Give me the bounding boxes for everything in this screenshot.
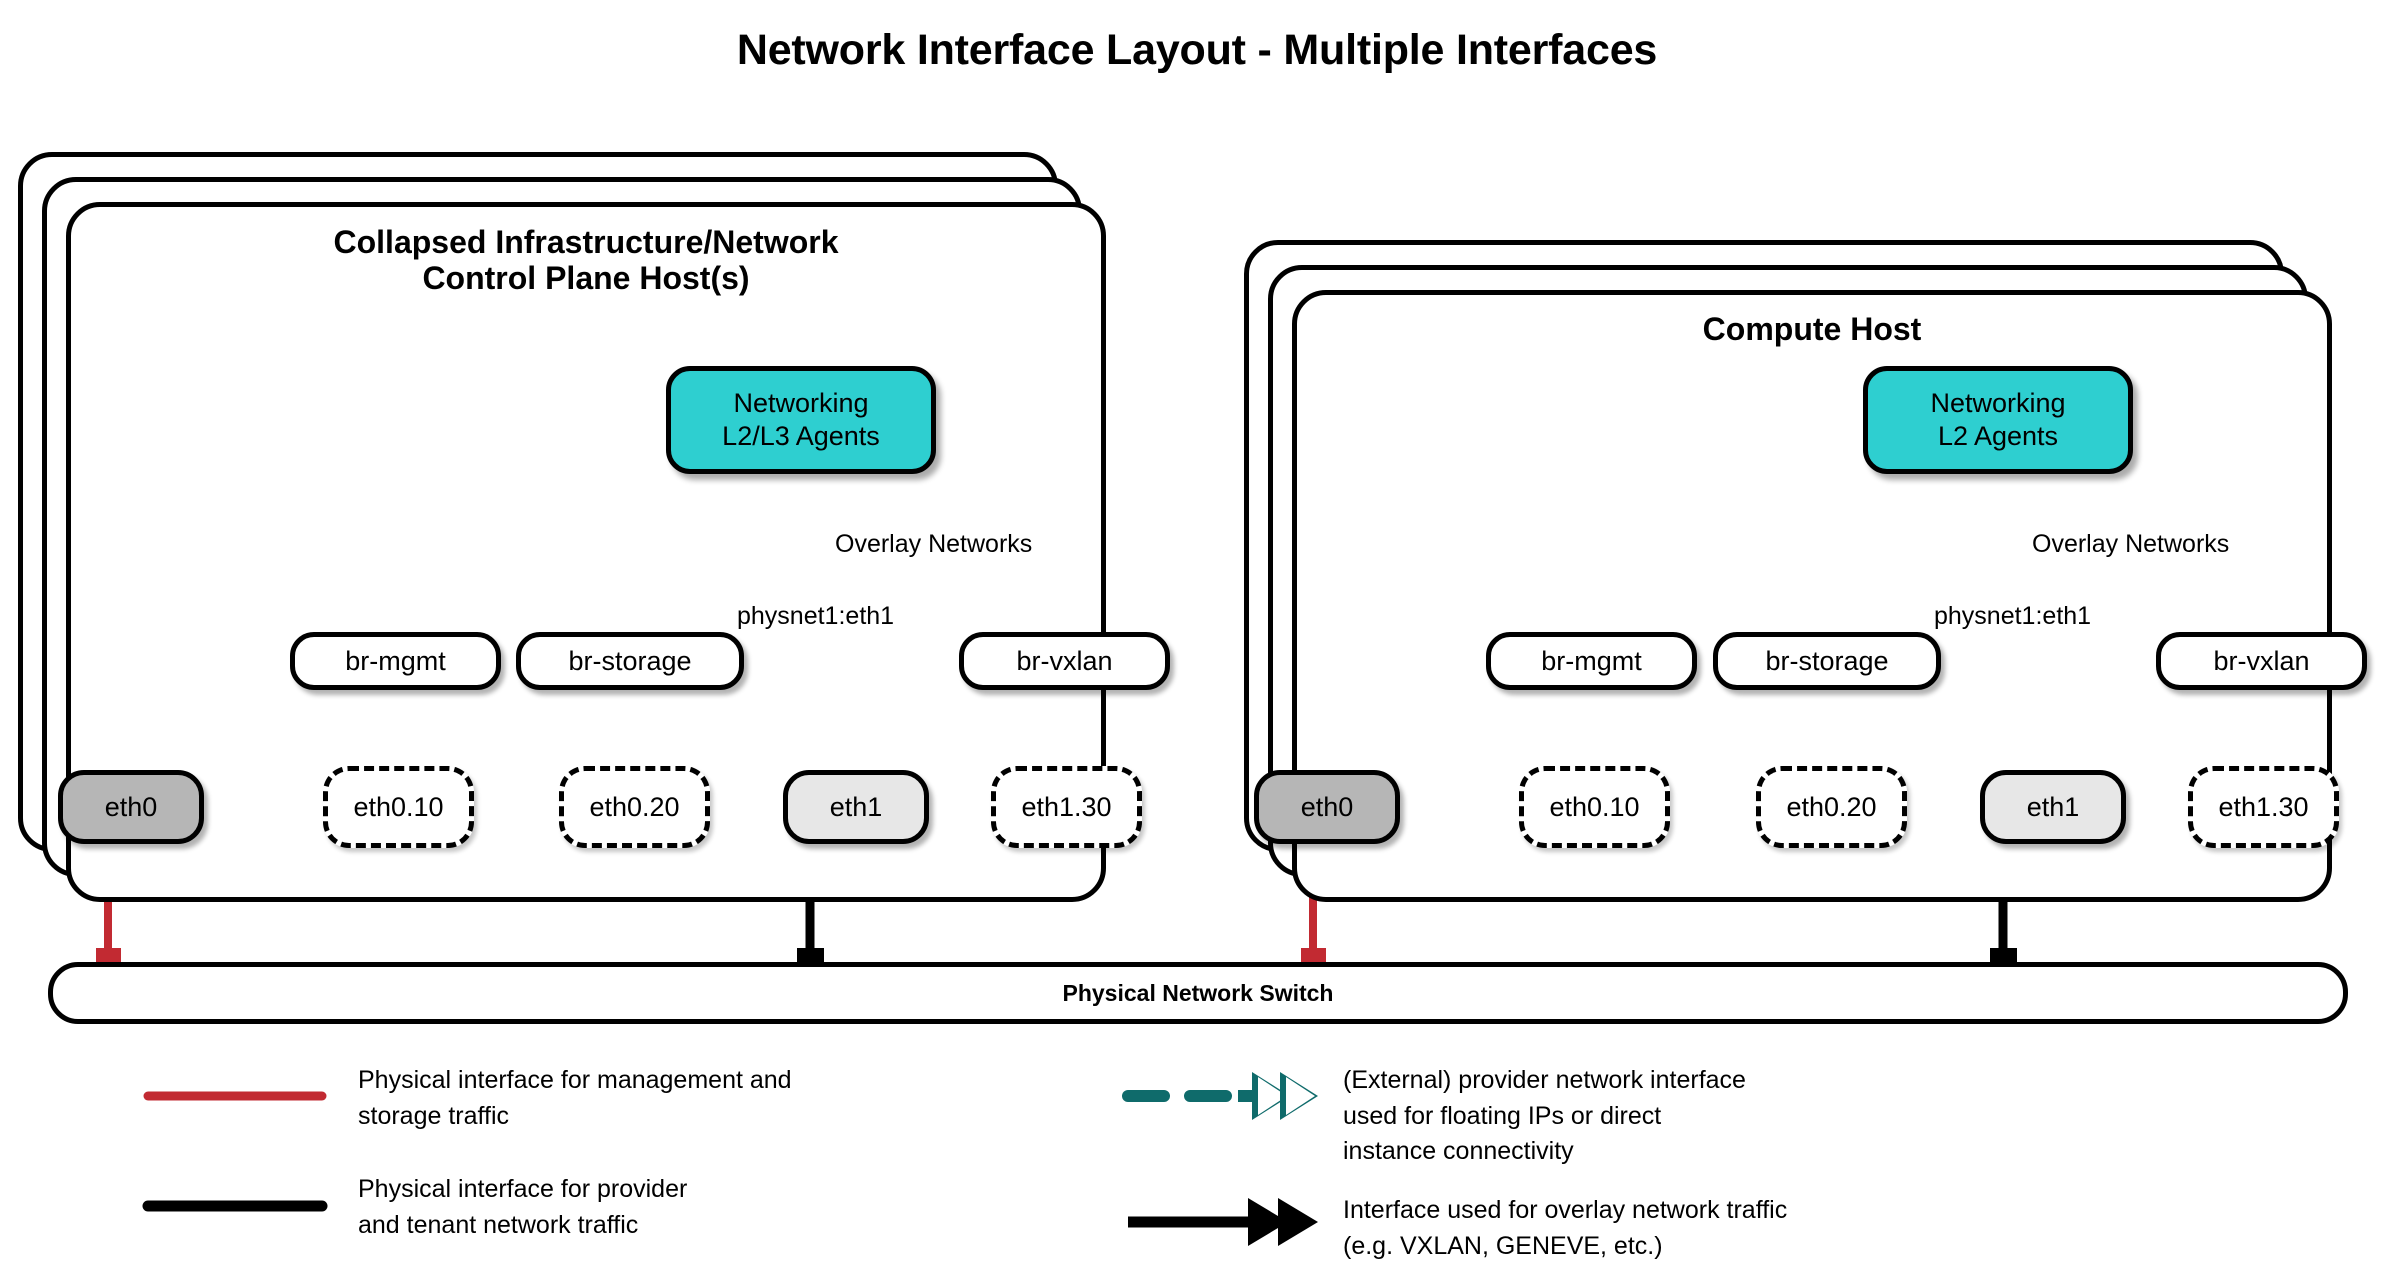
interface-label: eth0.10 — [353, 792, 443, 823]
networking-agents-node-control-plane[interactable]: Networking L2/L3 Agents — [666, 366, 936, 474]
interface-label: eth0 — [1301, 792, 1354, 823]
interface-label: eth1 — [830, 792, 883, 823]
bridge-label: br-vxlan — [2213, 646, 2309, 677]
legend-item-mgmt-text: Physical interface for management and st… — [358, 1063, 918, 1134]
interface-label: eth0.20 — [1786, 792, 1876, 823]
switch-label: Physical Network Switch — [1063, 980, 1334, 1007]
provider-network-label-compute: physnet1:eth1 — [1934, 602, 2091, 631]
physical-network-switch[interactable]: Physical Network Switch — [48, 962, 2348, 1024]
interface-label: eth1.30 — [2218, 792, 2308, 823]
agent-label-line-1: Networking — [733, 387, 868, 420]
vlan-interface-eth0-10-compute[interactable]: eth0.10 — [1519, 766, 1670, 848]
networking-agents-node-compute[interactable]: Networking L2 Agents — [1863, 366, 2133, 474]
legend-overlay-arrow-swatch — [1128, 1198, 1318, 1246]
provider-network-label-control-plane: physnet1:eth1 — [737, 602, 894, 631]
overlay-networks-label-compute: Overlay Networks — [2032, 530, 2229, 559]
bridge-node-br-mgmt-compute[interactable]: br-mgmt — [1486, 632, 1697, 690]
diagram-canvas: Network Interface Layout - Multiple Inte… — [0, 0, 2394, 1274]
overlay-networks-label-control-plane: Overlay Networks — [835, 530, 1032, 559]
physical-interface-eth0-compute[interactable]: eth0 — [1254, 770, 1400, 844]
vlan-interface-eth1-30-control-plane[interactable]: eth1.30 — [991, 766, 1142, 848]
interface-label: eth0.20 — [589, 792, 679, 823]
vlan-interface-eth0-20-control-plane[interactable]: eth0.20 — [559, 766, 710, 848]
bridge-node-br-vxlan-control-plane[interactable]: br-vxlan — [959, 632, 1170, 690]
interface-label: eth0.10 — [1549, 792, 1639, 823]
host-title-control-plane: Collapsed Infrastructure/Network Control… — [66, 225, 1106, 297]
bridge-label: br-storage — [568, 646, 691, 677]
bridge-label: br-storage — [1765, 646, 1888, 677]
host-title-compute: Compute Host — [1292, 312, 2332, 348]
legend-item-provider-text: (External) provider network interface us… — [1343, 1063, 1983, 1170]
vlan-interface-eth0-10-control-plane[interactable]: eth0.10 — [323, 766, 474, 848]
legend-provider-arrow-swatch — [1128, 1072, 1318, 1120]
vlan-interface-eth1-30-compute[interactable]: eth1.30 — [2188, 766, 2339, 848]
physical-interface-eth0-control-plane[interactable]: eth0 — [58, 770, 204, 844]
legend-item-overlay-text: Interface used for overlay network traff… — [1343, 1193, 2043, 1264]
bridge-node-br-vxlan-compute[interactable]: br-vxlan — [2156, 632, 2367, 690]
agent-label-line-1: Networking — [1930, 387, 2065, 420]
host-title-line-1: Compute Host — [1292, 312, 2332, 348]
bridge-node-br-storage-control-plane[interactable]: br-storage — [516, 632, 744, 690]
bridge-label: br-mgmt — [345, 646, 446, 677]
interface-label: eth1 — [2027, 792, 2080, 823]
bridge-label: br-mgmt — [1541, 646, 1642, 677]
agent-label-line-2: L2/L3 Agents — [722, 420, 880, 453]
legend-item-tenant-text: Physical interface for provider and tena… — [358, 1172, 918, 1243]
vlan-interface-eth0-20-compute[interactable]: eth0.20 — [1756, 766, 1907, 848]
bridge-node-br-mgmt-control-plane[interactable]: br-mgmt — [290, 632, 501, 690]
host-title-line-2: Control Plane Host(s) — [66, 261, 1106, 297]
bridge-label: br-vxlan — [1016, 646, 1112, 677]
host-title-line-1: Collapsed Infrastructure/Network — [66, 225, 1106, 261]
physical-interface-eth1-compute[interactable]: eth1 — [1980, 770, 2126, 844]
agent-label-line-2: L2 Agents — [1938, 420, 2058, 453]
interface-label: eth0 — [105, 792, 158, 823]
bridge-node-br-storage-compute[interactable]: br-storage — [1713, 632, 1941, 690]
interface-label: eth1.30 — [1021, 792, 1111, 823]
physical-interface-eth1-control-plane[interactable]: eth1 — [783, 770, 929, 844]
